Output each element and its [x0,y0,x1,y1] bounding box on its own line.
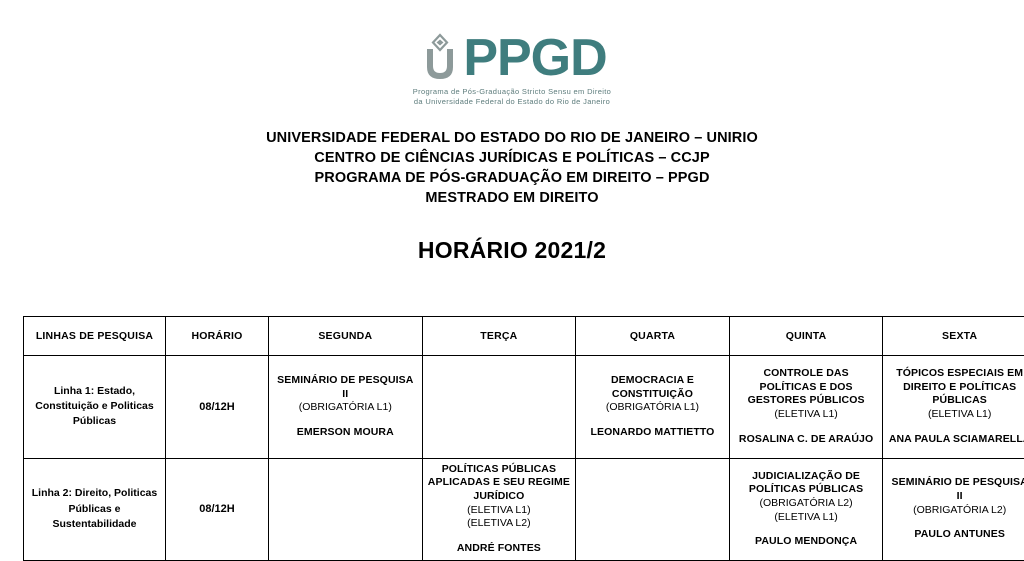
course-professor: PAULO ANTUNES [887,528,1024,542]
table-row: Linha 1: Estado, Constituição e Politica… [24,355,1024,458]
cell-quarta-row1: DEMOCRACIA E CONSTITUIÇÃO (OBRIGATÓRIA L… [576,355,730,458]
cell-terca-row1 [422,355,576,458]
logo-subtitle-line-2: da Universidade Federal do Estado do Rio… [413,97,611,107]
schedule-table-wrap: LINHAS DE PESQUISA HORÁRIO SEGUNDA TERÇA… [23,316,1001,561]
cell-sexta-row1: TÓPICOS ESPECIAIS EM DIREITO E POLÍTICAS… [883,355,1024,458]
logo-subtitle-line-1: Programa de Pós-Graduação Stricto Sensu … [413,87,611,97]
heading-line-program: PROGRAMA DE PÓS-GRADUAÇÃO EM DIREITO – P… [0,169,1024,189]
course-name: JUDICIALIZAÇÃO DE POLÍTICAS PÚBLICAS [734,470,879,497]
course-tag: (ELETIVA L1) [427,504,572,518]
course-name: CONTROLE DAS POLÍTICAS E DOS GESTORES PÚ… [734,367,879,408]
course-name: SEMINÁRIO DE PESQUISA II [887,476,1024,503]
page-title: HORÁRIO 2021/2 [0,237,1024,264]
header-sexta: SEXTA [883,316,1024,355]
course-tag: (ELETIVA L1) [734,408,879,422]
course-professor: LEONARDO MATTIETTO [580,426,725,440]
cell-sexta-row2: SEMINÁRIO DE PESQUISA II (OBRIGATÓRIA L2… [883,458,1024,560]
course-professor: ROSALINA C. DE ARAÚJO [734,433,879,447]
cell-horario-2: 08/12H [166,458,269,560]
heading-line-university: UNIVERSIDADE FEDERAL DO ESTADO DO RIO DE… [0,129,1024,149]
course-name: SEMINÁRIO DE PESQUISA II [273,374,418,401]
cell-terca-row2: POLÍTICAS PÚBLICAS APLICADAS E SEU REGIM… [422,458,576,560]
header-horario: HORÁRIO [166,316,269,355]
cell-segunda-row2 [269,458,423,560]
header-segunda: SEGUNDA [269,316,423,355]
logo-row: PPGD [417,32,606,84]
course-tag: (OBRIGATÓRIA L1) [580,401,725,415]
unirio-u-symbol-icon [417,33,463,83]
cell-quinta-row1: CONTROLE DAS POLÍTICAS E DOS GESTORES PÚ… [729,355,883,458]
course-tag: (ELETIVA L1) [887,408,1024,422]
cell-linha-2: Linha 2: Direito, Politicas Públicas e S… [24,458,166,560]
heading-line-center: CENTRO DE CIÊNCIAS JURÍDICAS E POLÍTICAS… [0,149,1024,169]
cell-segunda-row1: SEMINÁRIO DE PESQUISA II (OBRIGATÓRIA L1… [269,355,423,458]
course-name: POLÍTICAS PÚBLICAS APLICADAS E SEU REGIM… [427,463,572,504]
ppgd-logo-block: PPGD Programa de Pós-Graduação Stricto S… [0,0,1024,107]
course-tag: (OBRIGATÓRIA L1) [273,401,418,415]
header-quarta: QUARTA [576,316,730,355]
course-tag: (OBRIGATÓRIA L2) [734,497,879,511]
cell-quinta-row2: JUDICIALIZAÇÃO DE POLÍTICAS PÚBLICAS (OB… [729,458,883,560]
header-linhas-de-pesquisa: LINHAS DE PESQUISA [24,316,166,355]
course-tag: (ELETIVA L2) [427,517,572,531]
header-terca: TERÇA [422,316,576,355]
cell-linha-1: Linha 1: Estado, Constituição e Politica… [24,355,166,458]
heading-line-degree: MESTRADO EM DIREITO [0,189,1024,209]
schedule-table: LINHAS DE PESQUISA HORÁRIO SEGUNDA TERÇA… [23,316,1024,561]
logo-subtitle: Programa de Pós-Graduação Stricto Sensu … [413,87,611,107]
cell-horario-1: 08/12H [166,355,269,458]
logo-wordmark: PPGD [463,32,606,84]
course-professor: EMERSON MOURA [273,426,418,440]
course-name: DEMOCRACIA E CONSTITUIÇÃO [580,374,725,401]
course-tag: (ELETIVA L1) [734,511,879,525]
course-professor: PAULO MENDONÇA [734,535,879,549]
schedule-table-body: Linha 1: Estado, Constituição e Politica… [24,355,1024,560]
course-tag: (OBRIGATÓRIA L2) [887,504,1024,518]
schedule-table-head: LINHAS DE PESQUISA HORÁRIO SEGUNDA TERÇA… [24,316,1024,355]
course-professor: ANDRÉ FONTES [427,542,572,556]
table-row: Linha 2: Direito, Politicas Públicas e S… [24,458,1024,560]
course-professor: ANA PAULA SCIAMARELLA [887,433,1024,447]
course-name: TÓPICOS ESPECIAIS EM DIREITO E POLÍTICAS… [887,367,1024,408]
institution-heading: UNIVERSIDADE FEDERAL DO ESTADO DO RIO DE… [0,129,1024,208]
table-header-row: LINHAS DE PESQUISA HORÁRIO SEGUNDA TERÇA… [24,316,1024,355]
cell-quarta-row2 [576,458,730,560]
header-quinta: QUINTA [729,316,883,355]
